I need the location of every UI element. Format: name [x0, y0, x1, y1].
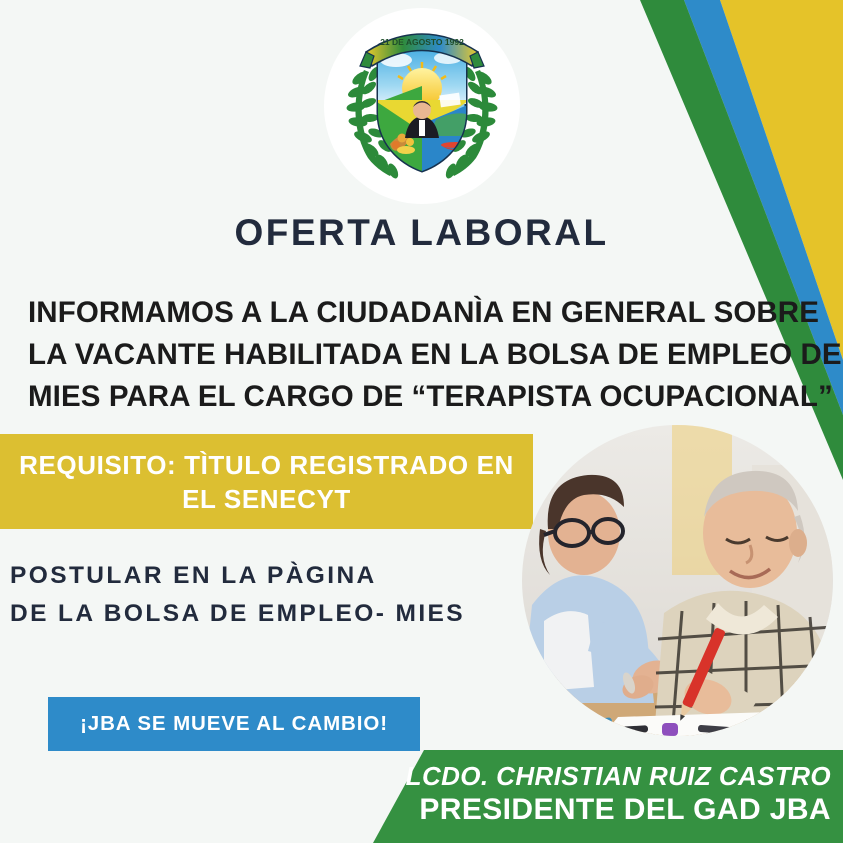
- emblem-container: 21 DE AGOSTO 1992: [0, 8, 843, 204]
- poster-canvas: 21 DE AGOSTO 1992 OFERTA LABORAL INFORMA…: [0, 0, 843, 843]
- announcement-line-2: LA VACANTE HABILITADA EN LA BOLSA DE EMP…: [28, 334, 815, 376]
- coat-of-arms-icon: 21 DE AGOSTO 1992: [324, 8, 520, 204]
- footer-signature: LCDO. CHRISTIAN RUIZ CASTRO PRESIDENTE D…: [406, 760, 831, 828]
- apply-instructions: POSTULAR EN LA PÀGINA DE LA BOLSA DE EMP…: [10, 557, 465, 633]
- page-title: OFERTA LABORAL: [0, 212, 843, 254]
- gad-jba-emblem: 21 DE AGOSTO 1992: [324, 8, 520, 204]
- requisite-text: REQUISITO: TÌTULO REGISTRADO EN EL SENEC…: [16, 448, 517, 516]
- announcement-body: INFORMAMOS A LA CIUDADANÌA EN GENERAL SO…: [28, 292, 815, 418]
- slogan-band: ¡JBA SE MUEVE AL CAMBIO!: [48, 697, 420, 751]
- requisite-band: REQUISITO: TÌTULO REGISTRADO EN EL SENEC…: [0, 434, 533, 529]
- president-name: LCDO. CHRISTIAN RUIZ CASTRO: [406, 760, 831, 792]
- occupational-therapy-photo: [522, 425, 833, 736]
- emblem-banner-text: 21 DE AGOSTO 1992: [380, 37, 464, 47]
- president-role: PRESIDENTE DEL GAD JBA: [406, 792, 831, 828]
- apply-line-2: DE LA BOLSA DE EMPLEO- MIES: [10, 595, 465, 633]
- apply-line-1: POSTULAR EN LA PÀGINA: [10, 557, 465, 595]
- announcement-line-1: INFORMAMOS A LA CIUDADANÌA EN GENERAL SO…: [28, 292, 815, 334]
- therapy-photo-illustration: [522, 425, 833, 736]
- slogan-text: ¡JBA SE MUEVE AL CAMBIO!: [80, 712, 388, 736]
- footer-band: LCDO. CHRISTIAN RUIZ CASTRO PRESIDENTE D…: [0, 750, 843, 843]
- announcement-line-3: MIES PARA EL CARGO DE “TERAPISTA OCUPACI…: [28, 376, 815, 418]
